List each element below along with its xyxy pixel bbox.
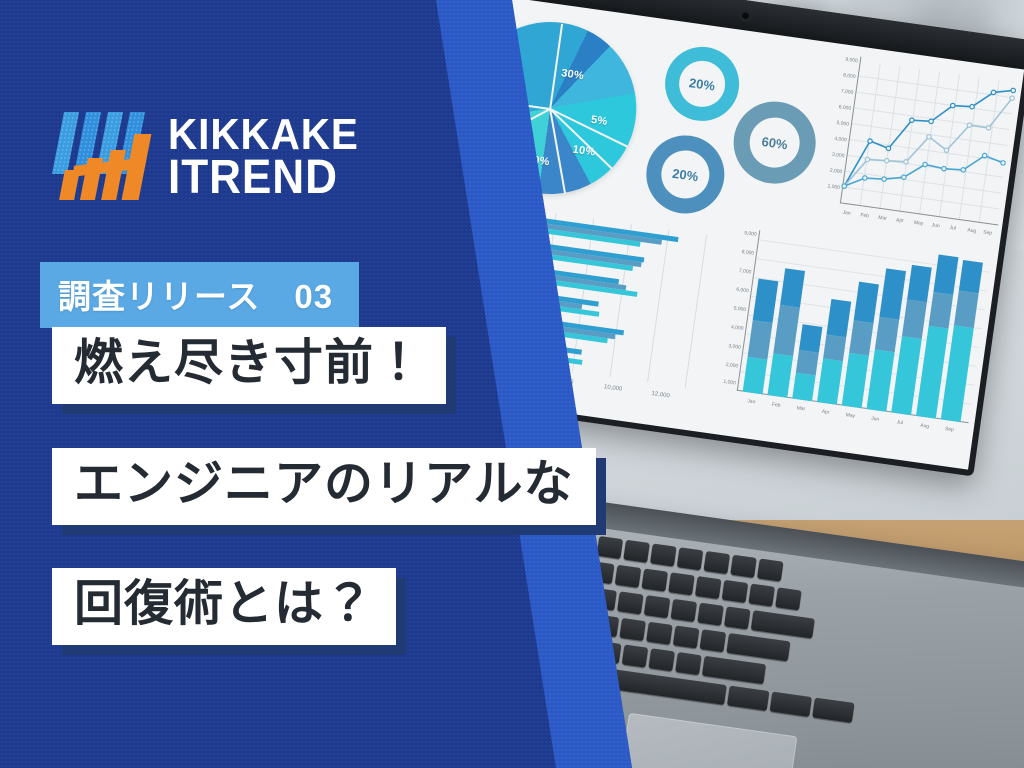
line-data-point bbox=[909, 118, 914, 123]
y-tick-label: 2,000 bbox=[712, 360, 739, 370]
y-tick-label: 3,000 bbox=[715, 341, 742, 351]
stacked-bar-segment bbox=[796, 350, 819, 375]
x-tick-label: Aug bbox=[914, 422, 935, 431]
line-data-point bbox=[970, 104, 975, 109]
donut-value-label: 60% bbox=[746, 114, 802, 170]
x-tick-label: Jun bbox=[865, 415, 886, 424]
donut-chart: 60% bbox=[728, 96, 821, 189]
keyboard-key bbox=[726, 633, 790, 661]
x-tick-label: Jul bbox=[949, 225, 956, 232]
line-data-point bbox=[1010, 96, 1015, 101]
keyboard-key bbox=[704, 551, 731, 574]
line-data-point bbox=[1011, 88, 1016, 93]
keyboard-key bbox=[724, 606, 751, 629]
keyboard-key bbox=[668, 572, 695, 595]
x-tick-label: May bbox=[840, 411, 861, 420]
brand-name-line2: ITREND bbox=[168, 156, 359, 200]
keyboard-key bbox=[697, 603, 724, 626]
line-data-point bbox=[926, 134, 931, 139]
x-tick-label: Apr bbox=[896, 217, 905, 224]
x-tick-label: Jul bbox=[890, 418, 911, 427]
webcam-icon bbox=[742, 12, 750, 20]
keyboard-key bbox=[650, 543, 677, 566]
line-chart-series bbox=[811, 53, 1019, 247]
line-data-point bbox=[944, 148, 949, 153]
keyboard-key bbox=[622, 645, 649, 668]
keyboard-key bbox=[644, 595, 671, 618]
x-tick-label: Mar bbox=[791, 404, 812, 413]
line-data-point bbox=[904, 159, 909, 164]
x-tick-label: Mar bbox=[878, 215, 887, 222]
y-tick-label: 1,000 bbox=[710, 377, 737, 387]
keyboard-key bbox=[700, 629, 727, 652]
line-data-point bbox=[842, 184, 847, 189]
line-data-point bbox=[901, 175, 906, 180]
x-tick-label: Apr bbox=[815, 408, 836, 417]
line-data-point bbox=[886, 146, 891, 151]
x-tick-label: Sep bbox=[939, 425, 960, 434]
y-tick-label: 8,000 bbox=[728, 247, 755, 257]
donut-chart: 20% bbox=[641, 130, 729, 218]
keyboard-key bbox=[615, 565, 642, 588]
keyboard-key bbox=[597, 536, 624, 559]
line-data-point bbox=[865, 157, 870, 162]
x-tick-label: May bbox=[913, 220, 923, 227]
line-data-point bbox=[986, 125, 991, 130]
keyboard-key bbox=[812, 698, 854, 723]
keyboard-key bbox=[648, 648, 675, 671]
line-data-point bbox=[1001, 160, 1006, 165]
keyboard-key bbox=[770, 692, 812, 717]
keyboard-key bbox=[677, 547, 704, 570]
stacked-bar-segment bbox=[792, 372, 815, 401]
keyboard-key bbox=[641, 569, 668, 592]
keyboard-key bbox=[730, 555, 757, 578]
poster-canvas: 30% 5% 10% 20% 10% 20% 20% 20% bbox=[0, 0, 1024, 768]
line-data-point bbox=[929, 119, 934, 124]
keyboard-key bbox=[748, 584, 775, 607]
donut-chart: 20% bbox=[660, 42, 744, 126]
keyboard-key bbox=[623, 540, 650, 563]
release-badge: 調査リリース 03 bbox=[40, 262, 359, 328]
donut-value-label: 20% bbox=[676, 58, 728, 110]
x-tick-label: Feb bbox=[766, 401, 787, 410]
stacked-bar-chart: 9,000 8,000 7,000 6,000 5,000 4,000 3,00… bbox=[706, 226, 991, 447]
y-tick-label: 9,000 bbox=[730, 228, 757, 238]
headline-text: 回復術とは？ bbox=[74, 577, 374, 631]
keyboard-key bbox=[695, 576, 722, 599]
line-chart: 9,000 8,000 7,000 6,000 5,000 4,000 3,00… bbox=[811, 53, 1019, 247]
y-tick-label: 6,000 bbox=[723, 285, 750, 295]
keyboard-key bbox=[617, 591, 644, 614]
stacked-bar-segment bbox=[799, 324, 822, 353]
line-data-point bbox=[868, 139, 873, 144]
line-data-point bbox=[991, 90, 996, 95]
headline-text: エンジニアのリアルな bbox=[74, 457, 574, 511]
line-data-point bbox=[967, 123, 972, 128]
x-tick-label: Feb bbox=[860, 212, 869, 219]
headline-line-1: 燃え尽き寸前！ bbox=[52, 327, 446, 404]
keyboard-key bbox=[646, 622, 673, 645]
line-data-point bbox=[941, 166, 946, 171]
brand-logo[interactable]: KIKKAKE ITREND bbox=[56, 106, 375, 200]
line-series bbox=[844, 137, 1003, 208]
line-data-point bbox=[862, 176, 867, 181]
keyboard-key bbox=[722, 580, 749, 603]
laptop-trackpad bbox=[615, 713, 797, 768]
bar-chart-mark-icon bbox=[56, 106, 154, 200]
brand-name-line1: KIKKAKE bbox=[168, 115, 359, 155]
keyboard-key bbox=[775, 587, 802, 610]
x-tick-label: Aug bbox=[967, 227, 977, 234]
y-tick-label: 7,000 bbox=[725, 266, 752, 276]
x-tick-label: Jun bbox=[931, 222, 940, 229]
headline-line-2: エンジニアのリアルな bbox=[52, 448, 596, 525]
line-data-point bbox=[982, 153, 987, 158]
headline-line-3: 回復術とは？ bbox=[52, 568, 396, 645]
release-badge-label: 調査リリース 03 bbox=[58, 278, 333, 315]
keyboard-key bbox=[675, 652, 702, 675]
line-data-point bbox=[950, 103, 955, 108]
keyboard-key bbox=[757, 558, 784, 581]
y-tick-label: 5,000 bbox=[720, 304, 747, 314]
line-data-point bbox=[882, 177, 887, 182]
keyboard-key bbox=[727, 686, 769, 711]
x-tick-label: Jan bbox=[842, 210, 851, 217]
keyboard-key bbox=[673, 625, 700, 648]
y-tick-label: 4,000 bbox=[717, 322, 744, 332]
keyboard-key bbox=[751, 610, 815, 638]
brand-wordmark: KIKKAKE ITREND bbox=[168, 115, 375, 200]
keyboard-key bbox=[702, 656, 766, 684]
x-tick-label: Sep bbox=[983, 229, 993, 236]
keyboard-key bbox=[671, 599, 698, 622]
x-tick-label: Jan bbox=[741, 397, 762, 406]
line-data-point bbox=[923, 162, 928, 167]
stacked-bar-segment bbox=[823, 334, 846, 361]
keyboard-key bbox=[619, 618, 646, 641]
line-data-point bbox=[961, 167, 966, 172]
donut-value-label: 20% bbox=[658, 147, 712, 201]
headline-text: 燃え尽き寸前！ bbox=[74, 336, 424, 390]
x-tick-label: 10,000 bbox=[604, 384, 623, 392]
pie-slice-label: 5% bbox=[590, 114, 608, 128]
line-data-point bbox=[884, 158, 889, 163]
x-tick-label: 12,000 bbox=[651, 391, 670, 399]
